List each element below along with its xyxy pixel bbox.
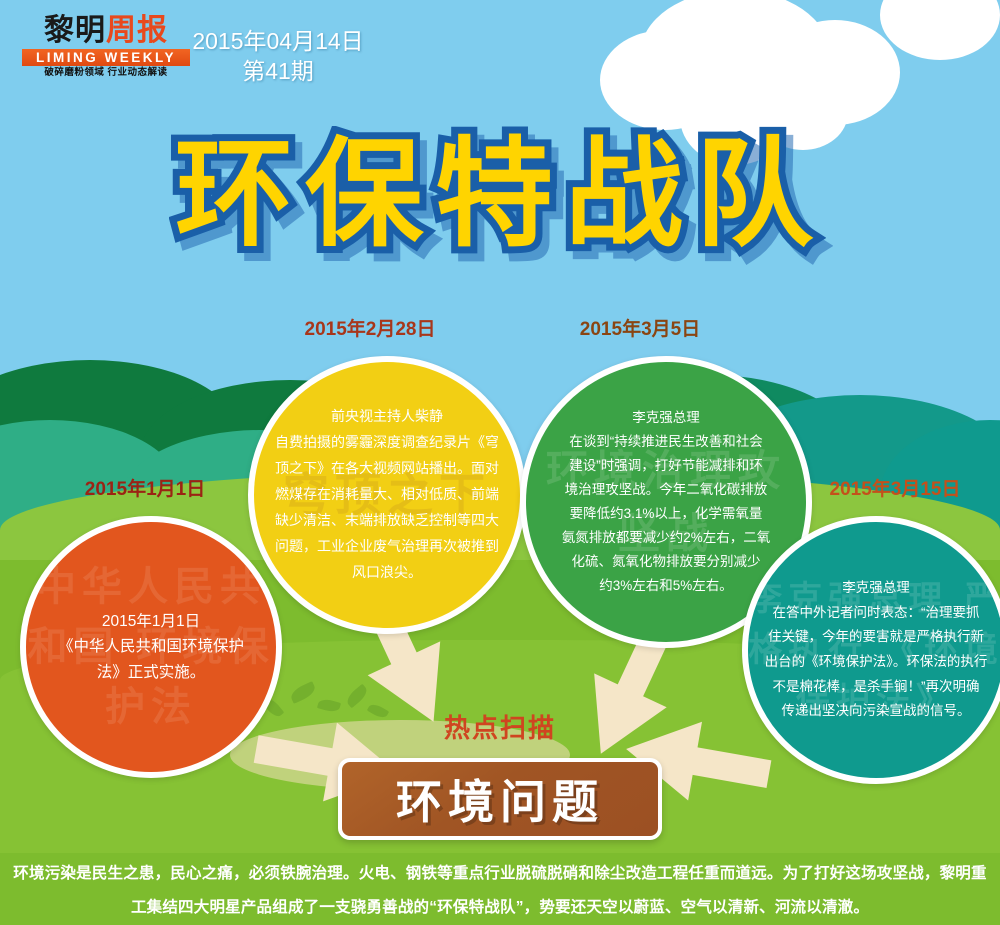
bubble-3-line: 在谈到“持续推进民生改善和社会 [562, 430, 771, 454]
timeline-bubble-2[interactable]: 穹顶之下 前央视主持人柴静 自费拍摄的雾霾深度调查纪录片《穹 顶之下》在各大视频… [248, 356, 526, 634]
bubble-3-line: 氨氮排放都要减少约2%左右，二氧 [562, 526, 771, 550]
env-problem-box[interactable]: 环境问题 [338, 758, 662, 840]
bubble-2-line: 缺少清洁、末端排放缺乏控制等四大 [275, 508, 499, 534]
bubble-3-line: 境治理攻坚战。今年二氧化碳排放 [562, 478, 771, 502]
bubble-3-line: 化硫、氮氧化物排放要分别减少 [562, 550, 771, 574]
bubble-3-line: 约3%左右和5%左右。 [562, 574, 771, 598]
bubble-2-line: 自费拍摄的雾霾深度调查纪录片《穹 [275, 430, 499, 456]
issue-date: 2015年04月14日 [178, 26, 378, 56]
bubble-2-line: 顶之下》在各大视频网站播出。面对 [275, 456, 499, 482]
date-label-2: 2015年2月28日 [265, 314, 475, 341]
bubble-2-line: 问题，工业企业废气治理再次被推到 [275, 534, 499, 560]
bubble-3-text: 李克强总理 在谈到“持续推进民生改善和社会 建设”时强调，打好节能减排和环 境治… [550, 406, 783, 598]
logo-chinese-name: 黎明周报 [22, 14, 190, 48]
bubble-2-text: 前央视主持人柴静 自费拍摄的雾霾深度调查纪录片《穹 顶之下》在各大视频网站播出。… [261, 404, 513, 585]
env-problem-label: 环境问题 [396, 766, 604, 832]
bubble-3-line: 要降低约3.1%以上，化学需氧量 [562, 502, 771, 526]
logo-english-banner: LIMING WEEKLY [22, 49, 190, 66]
bubble-4-text: 李克强总理 在答中外记者问时表态：“治理要抓 住关键，今年的要害就是严格执行新 … [755, 576, 998, 723]
bubble-1-line: 法》正式实施。 [58, 660, 244, 685]
bubble-4-line: 不是棉花棒，是杀手锏！”再次明确 [765, 675, 988, 700]
logo-chinese-part2: 周报 [106, 14, 168, 47]
bubble-4-line: 在答中外记者问时表态：“治理要抓 [765, 601, 988, 626]
infographic-page: 黎明周报 LIMING WEEKLY 破碎磨粉领域 行业动态解读 2015年04… [0, 0, 1000, 925]
bubble-4-line: 传递出坚决向污染宣战的信号。 [765, 699, 988, 724]
bubble-1-line: 2015年1月1日 [58, 609, 244, 634]
arrow-from-bubble-2 [330, 620, 480, 770]
bubble-4-line: 住关键，今年的要害就是严格执行新 [765, 625, 988, 650]
footer-line-2: 工集结四大明星产品组成了一支骁勇善战的“环保特战队”，势要还天空以蔚蓝、空气以清… [0, 891, 1000, 925]
footer-line-1: 环境污染是民生之患，民心之痛，必须铁腕治理。火电、钢铁等重点行业脱硫脱硝和除尘改… [0, 857, 1000, 891]
bubble-3-line: 建设”时强调，打好节能减排和环 [562, 454, 771, 478]
issue-info: 2015年04月14日 第41期 [178, 26, 378, 86]
logo-tagline: 破碎磨粉领域 行业动态解读 [22, 66, 190, 80]
bubble-2-line: 前央视主持人柴静 [275, 404, 499, 430]
page-title: 环保特战队 [0, 128, 1000, 264]
date-label-4: 2015年3月15日 [800, 474, 990, 501]
bubble-4-line: 李克强总理 [765, 576, 988, 601]
bubble-4-line: 出台的《环境保护法》。环保法的执行 [765, 650, 988, 675]
bubble-3-line: 李克强总理 [562, 406, 771, 430]
bubble-1-text: 2015年1月1日 《中华人民共和国环境保护 法》正式实施。 [32, 609, 270, 684]
bubble-1-line: 《中华人民共和国环境保护 [58, 634, 244, 659]
publication-logo[interactable]: 黎明周报 LIMING WEEKLY 破碎磨粉领域 行业动态解读 [22, 14, 190, 86]
date-label-1: 2015年1月1日 [55, 474, 235, 501]
date-label-3: 2015年3月5日 [540, 314, 740, 341]
footer-summary: 环境污染是民生之患，民心之痛，必须铁腕治理。火电、钢铁等重点行业脱硫脱硝和除尘改… [0, 853, 1000, 925]
bubble-2-line: 燃煤存在消耗量大、相对低质、前端 [275, 482, 499, 508]
logo-chinese-part1: 黎明 [44, 14, 106, 47]
issue-number: 第41期 [178, 56, 378, 86]
bubble-2-line: 风口浪尖。 [275, 560, 499, 586]
